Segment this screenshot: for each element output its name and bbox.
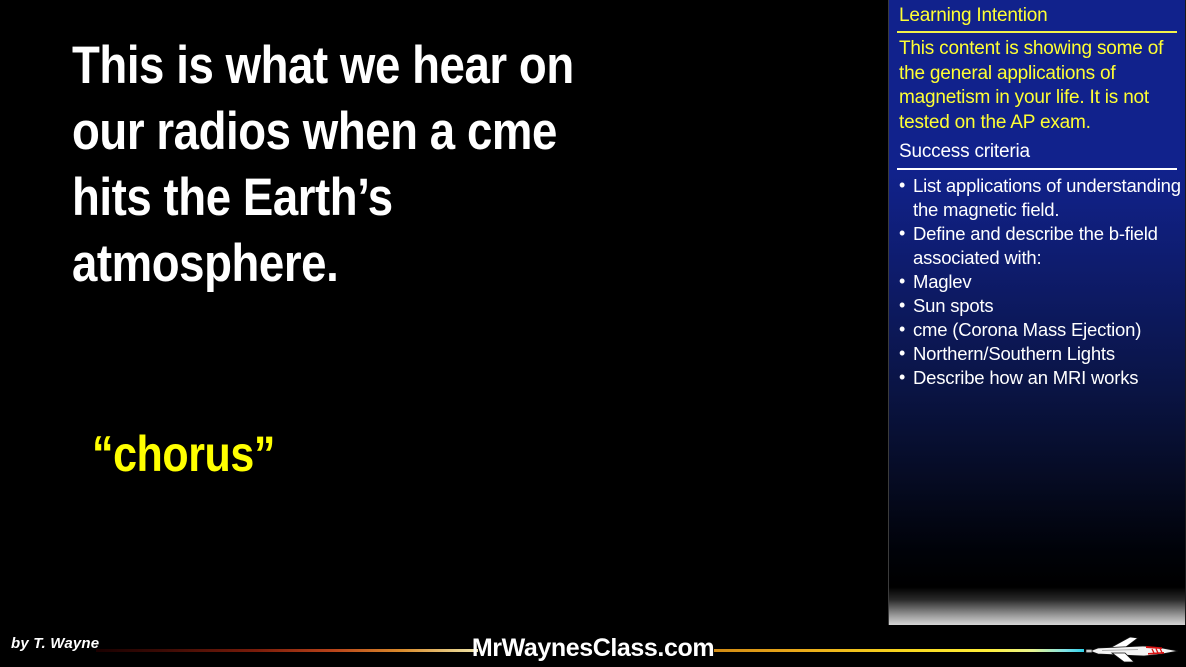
success-criteria-item: Maglev [899, 270, 1181, 294]
learning-intention-body-text: This content is showing some of the gene… [889, 37, 1185, 137]
chorus-label: “chorus” [92, 425, 275, 483]
learning-intention-panel: Learning Intention This content is showi… [888, 0, 1186, 628]
success-criteria-item: Sun spots [899, 294, 1181, 318]
footer-accent-line-left [96, 649, 478, 652]
slide-canvas: This is what we hear on our radios when … [0, 0, 1186, 667]
success-criteria-heading: Success criteria [889, 137, 1185, 166]
success-criteria-item: Northern/Southern Lights [899, 342, 1181, 366]
learning-intention-divider [897, 31, 1177, 33]
success-criteria-divider [897, 168, 1177, 170]
success-criteria-list: List applications of understanding the m… [889, 174, 1185, 390]
learning-intention-heading: Learning Intention [889, 0, 1185, 30]
success-criteria-item: Describe how an MRI works [899, 366, 1181, 390]
success-criteria-item: List applications of understanding the m… [899, 174, 1181, 222]
main-statement-text: This is what we hear on our radios when … [72, 33, 622, 297]
rocket-icon [1078, 635, 1182, 665]
main-content-area: This is what we hear on our radios when … [72, 33, 712, 297]
author-credit: by T. Wayne [11, 635, 99, 652]
slide-footer: by T. Wayne MrWaynesClass.com [0, 625, 1186, 667]
success-criteria-item: Define and describe the b-field associat… [899, 222, 1181, 270]
success-criteria-item: cme (Corona Mass Ejection) [899, 318, 1181, 342]
footer-accent-line-right [714, 649, 1084, 652]
